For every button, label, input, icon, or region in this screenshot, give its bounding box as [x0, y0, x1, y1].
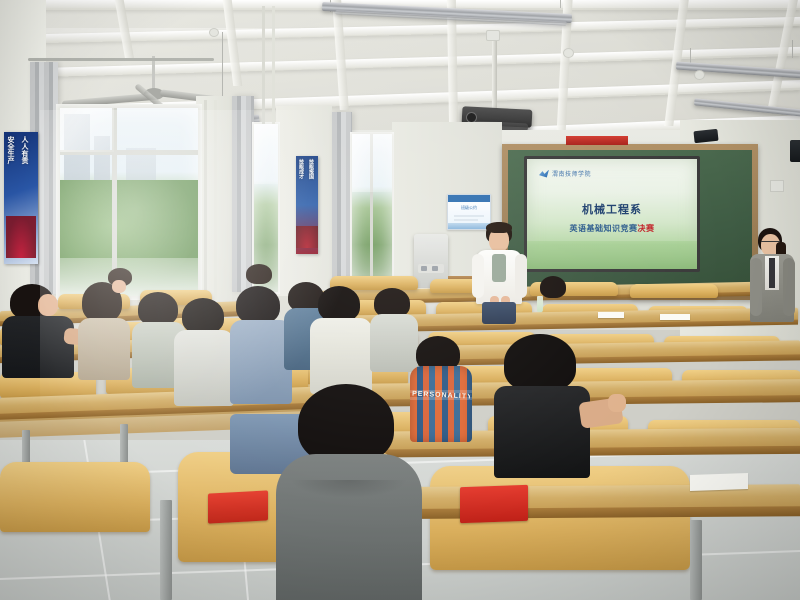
- projection-screen[interactable]: 渭南技师学院 机械工程系 英语基础知识竞赛决赛: [527, 159, 697, 269]
- wall-poster-left-line1: 安全生产: [6, 136, 15, 164]
- wall-switchbox: [770, 180, 784, 192]
- wall-notice-header: 班级公约: [448, 205, 490, 211]
- wall-notice: 班级公约: [447, 194, 491, 230]
- water-bottle: [537, 296, 543, 312]
- wall-poster-mid: 技能成才 技能报国: [296, 156, 318, 254]
- red-folder[interactable]: [460, 485, 528, 523]
- wall-poster-mid-line2: 技能报国: [307, 159, 314, 179]
- wall-monitor: [790, 140, 800, 162]
- wall-poster-mid-line1: 技能成才: [297, 159, 304, 179]
- wall-poster-left-line2: 人人有责: [20, 136, 29, 164]
- paper-sheet: [690, 473, 748, 491]
- slide-title: 机械工程系: [527, 201, 697, 217]
- wall-poster-left: 安全生产 人人有责: [4, 132, 38, 264]
- slide-subtitle: 英语基础知识竞赛决赛: [527, 223, 697, 234]
- classroom-photo: 安全生产 人人有责 技能成才 技能报国 班级公约 渭南技师学院: [0, 0, 800, 600]
- slide-subtitle-highlight: 决赛: [638, 224, 655, 233]
- wall-speaker: [693, 129, 718, 143]
- banner-strip: [566, 136, 628, 145]
- red-folder[interactable]: [208, 490, 268, 523]
- bird-logo-icon: [539, 170, 549, 178]
- slide-subtitle-main: 英语基础知识竞赛: [570, 224, 638, 233]
- slide-logo-text: 渭南技师学院: [552, 169, 591, 178]
